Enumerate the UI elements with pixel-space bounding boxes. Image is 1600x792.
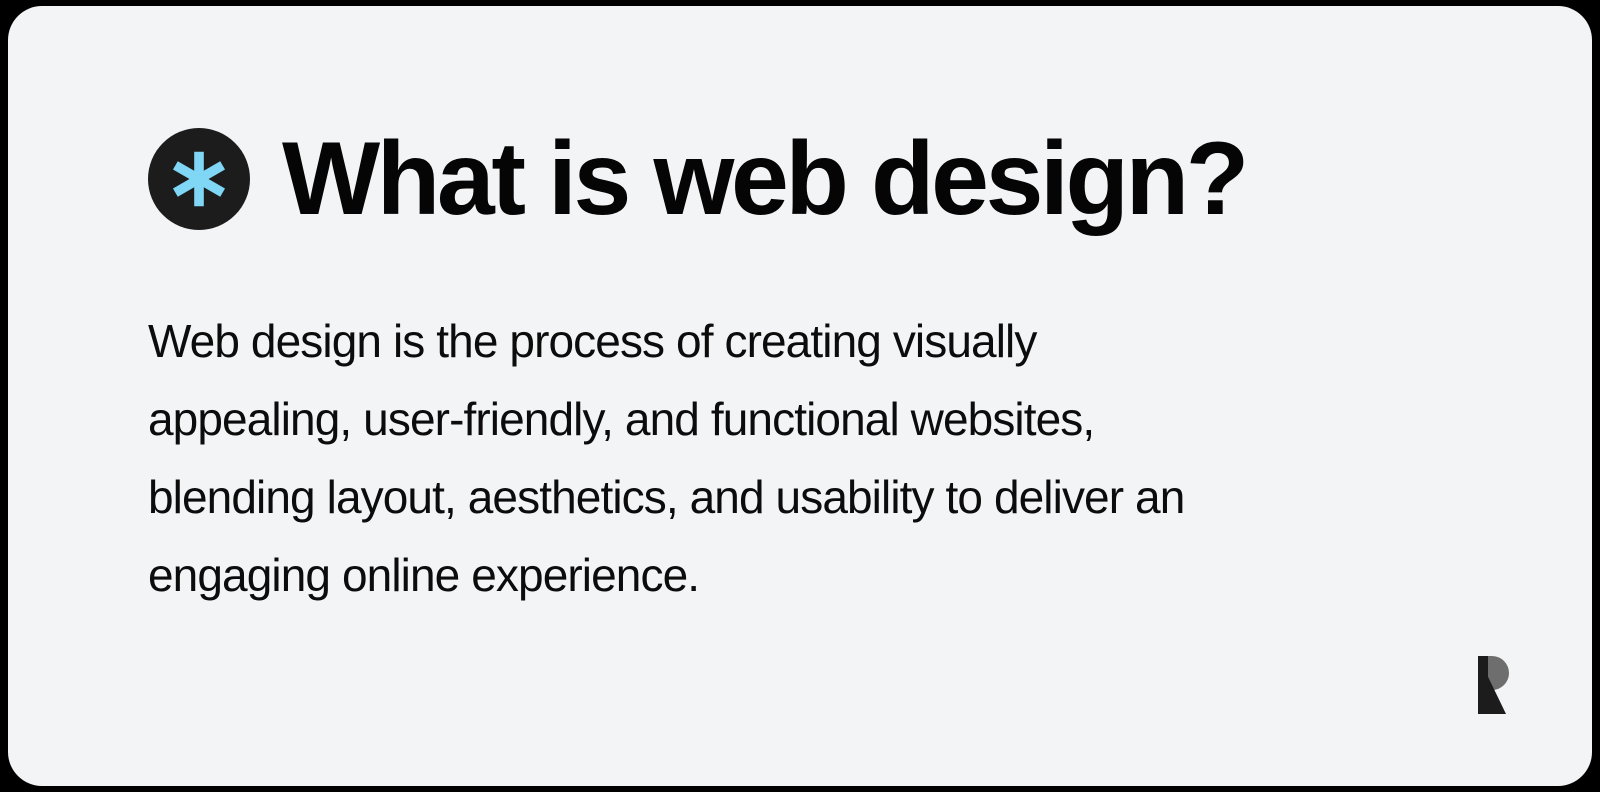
card-content: What is web design? Web design is the pr… [148, 118, 1512, 614]
body-line: Web design is the process of creating vi… [148, 302, 1363, 380]
brand-r-logo [1462, 650, 1514, 714]
heading-row: What is web design? [148, 118, 1512, 240]
asterisk-icon [148, 128, 250, 230]
body-line: appealing, user-friendly, and functional… [148, 380, 1363, 458]
content-card: What is web design? Web design is the pr… [8, 6, 1592, 786]
page-title: What is web design? [282, 126, 1246, 232]
body-paragraph: Web design is the process of creating vi… [148, 240, 1363, 614]
body-line: blending layout, aesthetics, and usabili… [148, 458, 1363, 536]
body-line: engaging online experience. [148, 536, 1363, 614]
